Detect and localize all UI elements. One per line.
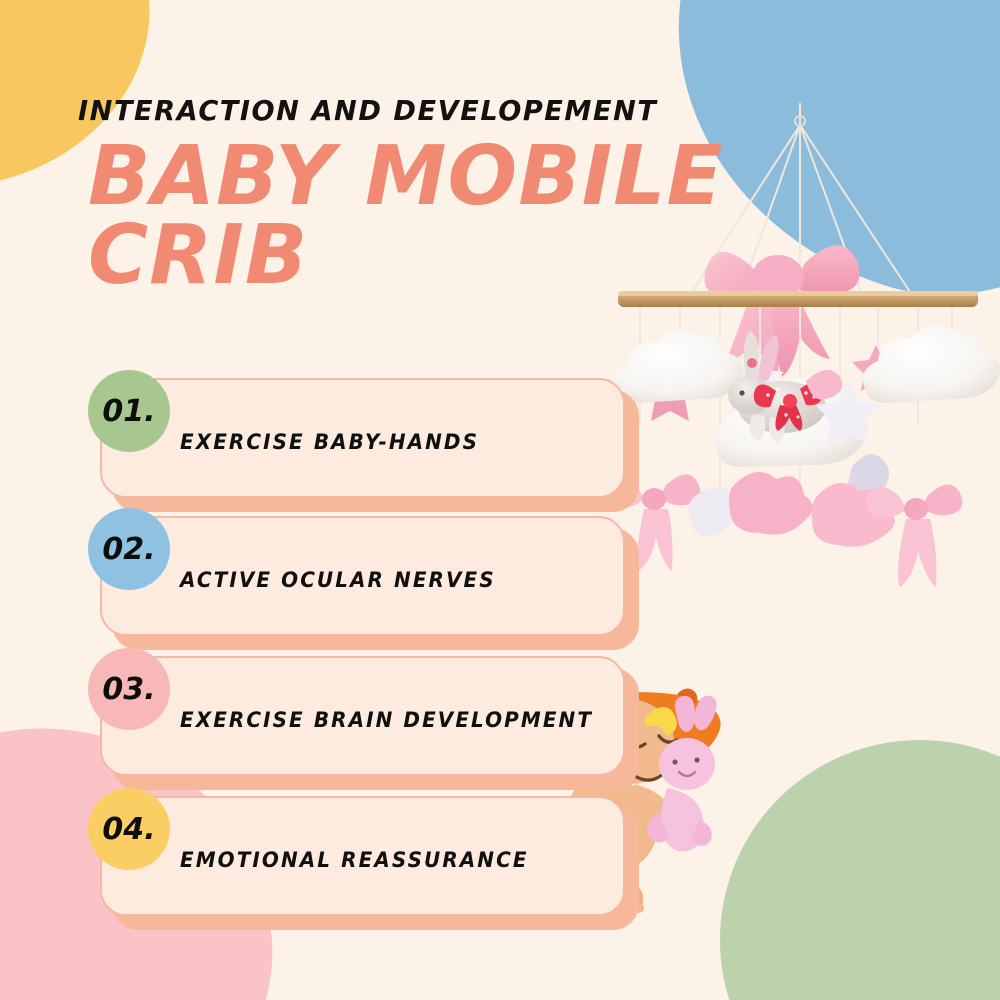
- mobile-petal-lavender: [847, 454, 889, 523]
- mobile-bunny-on-cloud: [714, 331, 867, 467]
- benefit-number-badge: 04.: [88, 788, 170, 870]
- mobile-drop-strings: [640, 307, 952, 515]
- benefit-card[interactable]: EXERCISE BABY-HANDS: [100, 378, 625, 498]
- benefit-card[interactable]: ACTIVE OCULAR NERVES: [100, 516, 625, 636]
- poster-eyebrow: INTERACTION AND DEVELOPEMENT: [78, 94, 657, 127]
- baby-smile: [635, 772, 665, 780]
- mobile-star-white-small: [736, 355, 784, 401]
- mobile-pink-cloud-left: [729, 472, 813, 535]
- bunny-plush-toy: [647, 696, 716, 852]
- mobile-cloud-left: [615, 330, 744, 403]
- mobile-petal-white: [688, 487, 736, 537]
- benefit-item-4[interactable]: EMOTIONAL REASSURANCE 04.: [100, 796, 625, 916]
- bunny-red-bow: [754, 382, 822, 431]
- poster-canvas: INTERACTION AND DEVELOPEMENT BABY MOBILE…: [0, 0, 1000, 1000]
- benefit-card[interactable]: EMOTIONAL REASSURANCE: [100, 796, 625, 916]
- mobile-star-white-large: [815, 381, 881, 444]
- corner-blob-bottom-right: [720, 740, 1000, 1000]
- mobile-bow-right: [866, 484, 963, 587]
- benefit-label: EMOTIONAL REASSURANCE: [180, 848, 529, 872]
- benefit-item-3[interactable]: EXERCISE BRAIN DEVELOPMENT 03.: [100, 656, 625, 776]
- benefit-label: EXERCISE BABY-HANDS: [180, 430, 479, 454]
- benefit-number-badge: 02.: [88, 508, 170, 590]
- benefit-label: ACTIVE OCULAR NERVES: [180, 568, 496, 592]
- benefit-number-badge: 03.: [88, 648, 170, 730]
- benefit-number-badge: 01.: [88, 370, 170, 452]
- benefit-item-2[interactable]: ACTIVE OCULAR NERVES 02.: [100, 516, 625, 636]
- mobile-cloud-right: [863, 325, 1000, 403]
- benefit-card[interactable]: EXERCISE BRAIN DEVELOPMENT: [100, 656, 625, 776]
- baby-arm: [633, 784, 678, 834]
- baby-hair-curl: [645, 707, 677, 736]
- mobile-pink-cloud-right: [812, 483, 895, 547]
- benefit-label: EXERCISE BRAIN DEVELOPMENT: [180, 708, 593, 732]
- bunny-plush-body: [660, 788, 703, 852]
- benefit-item-1[interactable]: EXERCISE BABY-HANDS 01.: [100, 378, 625, 498]
- mobile-star-pink-right: [852, 345, 900, 391]
- bunny-plush-head: [659, 738, 715, 790]
- poster-headline: BABY MOBILE CRIB: [88, 138, 728, 295]
- mobile-star-pink-left: [640, 363, 700, 421]
